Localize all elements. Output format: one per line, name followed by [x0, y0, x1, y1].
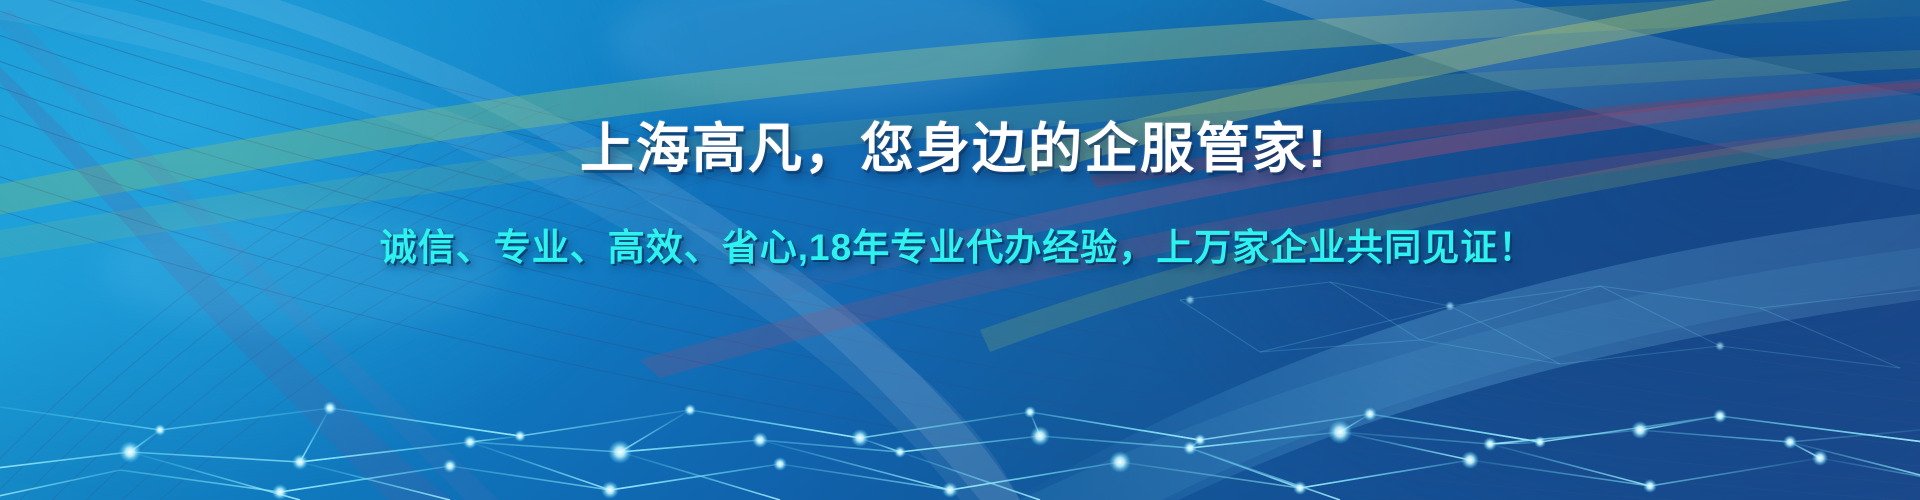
hero-subheadline: 诚信、专业、高效、省心,18年专业代办经验，上万家企业共同见证！	[380, 226, 1536, 270]
company-hero-banner: 上海高凡，您身边的企服管家! 诚信、专业、高效、省心,18年专业代办经验，上万家…	[0, 0, 1920, 500]
hero-text-block: 上海高凡，您身边的企服管家! 诚信、专业、高效、省心,18年专业代办经验，上万家…	[0, 0, 1920, 500]
hero-headline: 上海高凡，您身边的企服管家!	[580, 118, 1328, 180]
